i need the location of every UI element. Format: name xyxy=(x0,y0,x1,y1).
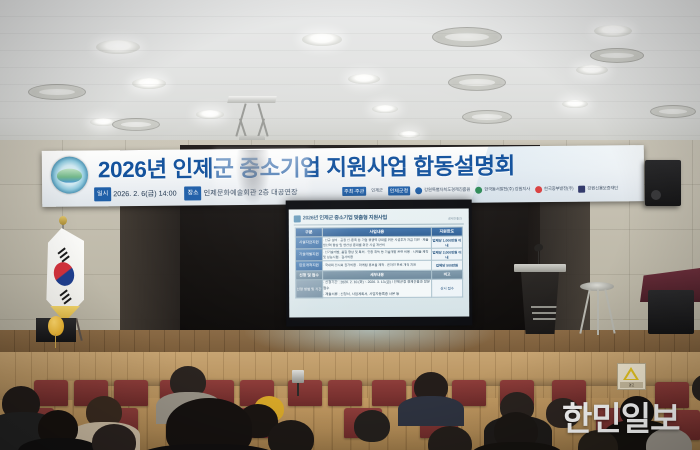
ceiling-slot-light xyxy=(432,27,502,47)
warning-label: 경고 xyxy=(620,382,643,388)
event-banner: 2026년 인제군 중소기업 지원사업 합동설명회 일시2026. 2. 6(금… xyxy=(42,145,645,207)
row-amount: 업체당 500만원 xyxy=(431,260,462,270)
partner-mark-icon xyxy=(415,187,422,194)
partner-label: 강원특별자치도경제진흥원 xyxy=(424,187,470,193)
ceiling-slot-light xyxy=(590,48,644,63)
row-body: · 국내외 전시회 참가비용 · 마케팅 홍보물 제작 · 온라인 판로 개척 … xyxy=(322,260,431,271)
audience-member xyxy=(166,398,252,450)
ceiling-downlight xyxy=(302,33,342,46)
footer-label: 신청 방법 및 기간 xyxy=(296,280,323,298)
ceiling-downlight xyxy=(90,118,116,126)
row-body: · 신규 설비 · 공장 신·증축 등 기업 경쟁력 강화를 위한 시설투자 자… xyxy=(322,236,431,249)
host-chip: 주최·주관 xyxy=(342,186,366,195)
footer-item: · 제출서류 : 신청서, 사업계획서, 사업자등록증 사본 등 xyxy=(323,291,431,297)
presentation-slide: 2026년 인제군 중소기업 맞춤형 지원사업 경제진흥과 구분 사업내용 지원… xyxy=(289,209,470,318)
slide-bullet-icon xyxy=(294,215,301,222)
audience-member xyxy=(140,444,276,450)
footer-right: 상시 접수 xyxy=(432,279,463,298)
partner-mark-icon xyxy=(475,186,482,193)
table-row: 시설자금지원 · 신규 설비 · 공장 신·증축 등 기업 경쟁력 강화를 위한… xyxy=(295,236,462,249)
banner-subinfo: 일시2026. 2. 6(금) 14:00 장소인제문화예술회관 2층 대공연장 xyxy=(94,185,344,199)
projection-screen: 2026년 인제군 중소기업 맞춤형 지원사업 경제진흥과 구분 사업내용 지원… xyxy=(286,200,473,327)
hazard-warning-sign: 경고 xyxy=(617,363,646,390)
photo-scene: 2026년 인제군 중소기업 지원사업 합동설명회 일시2026. 2. 6(금… xyxy=(0,0,700,450)
ceiling-downlight xyxy=(562,100,588,108)
column-header: 지원한도 xyxy=(431,227,462,236)
slide-title: 2026년 인제군 중소기업 맞춤형 지원사업 xyxy=(303,214,387,221)
footer-item: · 신청기간 : 2026. 2. 10.(화) ~ 2026. 3. 13.(… xyxy=(323,280,431,292)
ceiling-downlight xyxy=(398,131,420,138)
row-label: 기술개발지원 xyxy=(295,249,322,261)
slide-title-bar: 2026년 인제군 중소기업 맞춤형 지원사업 경제진흥과 xyxy=(294,213,464,226)
banner-title: 2026년 인제군 중소기업 지원사업 합동설명회 xyxy=(98,149,638,186)
partner-label: 강원신용보증재단 xyxy=(587,185,618,191)
ceiling-downlight xyxy=(132,78,166,89)
stand-leg xyxy=(75,318,82,341)
audience-member xyxy=(354,410,390,442)
tripod-leg xyxy=(597,289,599,335)
ceiling-slot-light xyxy=(448,74,506,91)
banner-place-chip: 장소 xyxy=(184,186,201,200)
sponsor-chip: 인제군청 xyxy=(388,186,410,195)
audience-member xyxy=(268,420,314,450)
subheader-right: 비고 xyxy=(432,270,463,279)
row-amount: 업체당 2,000만원 이내 xyxy=(431,248,462,260)
partner-logo: 한국중부발전(주) xyxy=(535,185,573,192)
ceiling-downlight xyxy=(372,105,398,113)
slide-table: 구분 사업내용 지원한도 시설자금지원 · 신규 설비 · 공장 신·증축 등 … xyxy=(295,227,463,299)
ceiling-slot-light xyxy=(28,84,86,100)
camera-body-icon xyxy=(292,370,304,383)
host-name: 인제군 xyxy=(371,188,383,194)
lectern xyxy=(514,264,566,334)
banner-datetime: 2026. 2. 6(금) 14:00 xyxy=(113,189,176,199)
tripod-leg xyxy=(604,289,615,333)
table-footer-row: 신청 방법 및 기간 · 신청기간 : 2026. 2. 10.(화) ~ 20… xyxy=(296,279,463,298)
wall-mounted-speaker xyxy=(645,160,681,206)
partner-label: 한국동서발전(주) 강원지사 xyxy=(484,186,530,192)
ceiling-downlight xyxy=(348,74,380,84)
ceiling-slot-light xyxy=(112,118,160,131)
ceiling-downlight xyxy=(594,25,632,37)
partner-mark-icon xyxy=(578,185,585,192)
ceiling-downlight xyxy=(576,65,608,75)
projector-shadow xyxy=(236,150,270,204)
banner-datetime-chip: 일시 xyxy=(94,187,111,201)
tripod-leg xyxy=(579,289,590,333)
balloon-decoration xyxy=(48,316,64,336)
lectern-top xyxy=(514,264,566,272)
audience-member xyxy=(428,426,472,450)
ceiling-downlight xyxy=(196,110,224,119)
ceiling-downlight xyxy=(96,40,140,54)
partner-logo: 한국동서발전(주) 강원지사 xyxy=(475,186,530,194)
tripod-camera xyxy=(292,370,304,396)
table-row: 기술개발지원 · 신기술개발, 품질 향상 및 특허 · 인증 취득 등 기술개… xyxy=(295,248,462,261)
ceiling-slot-light xyxy=(462,110,512,124)
footer-body: · 신청기간 : 2026. 2. 10.(화) ~ 2026. 3. 13.(… xyxy=(323,279,432,298)
partner-label: 한국중부발전(주) xyxy=(544,186,573,192)
auditorium-seat xyxy=(114,380,148,406)
row-label: 시설자금지원 xyxy=(295,237,322,249)
tripod-stand xyxy=(580,282,614,334)
ceiling xyxy=(0,0,700,148)
camera-pole xyxy=(297,383,299,396)
lectern-stripe xyxy=(531,306,563,308)
lectern-body xyxy=(521,272,559,334)
partner-logo: 강원특별자치도경제진흥원 xyxy=(415,186,470,194)
row-label: 판로개척지원 xyxy=(295,261,322,271)
row-amount: 업체당 1,000만원 이내 xyxy=(431,236,462,248)
auditorium-seat xyxy=(328,380,362,406)
lectern-stripe xyxy=(533,318,561,320)
lift-plate xyxy=(227,96,276,103)
row-body: · 신기술개발, 품질 향상 및 특허 · 인증 취득 등 기술개발 관련 비용… xyxy=(322,248,431,261)
flag-finial xyxy=(59,216,67,225)
floor-speaker-right xyxy=(648,290,694,334)
partner-logo: 강원신용보증재단 xyxy=(578,185,618,192)
balloon-string xyxy=(55,334,56,348)
inje-county-emblem-icon xyxy=(51,156,88,193)
warning-triangle-icon xyxy=(623,367,639,380)
audience-member xyxy=(398,396,464,426)
sponsor-logo-row: 주최·주관 인제군 인제군청 강원특별자치도경제진흥원 한국동서발전(주) 강원… xyxy=(342,181,642,198)
watermark: 한민일보 xyxy=(562,398,694,440)
ceiling-slot-light xyxy=(650,105,696,118)
column-header: 구분 xyxy=(295,228,322,237)
lectern-stripe xyxy=(532,312,562,314)
partner-mark-icon xyxy=(535,186,542,193)
subheader-label: 신청 및 접수 xyxy=(296,271,323,280)
slide-meta: 경제진흥과 xyxy=(448,217,462,221)
